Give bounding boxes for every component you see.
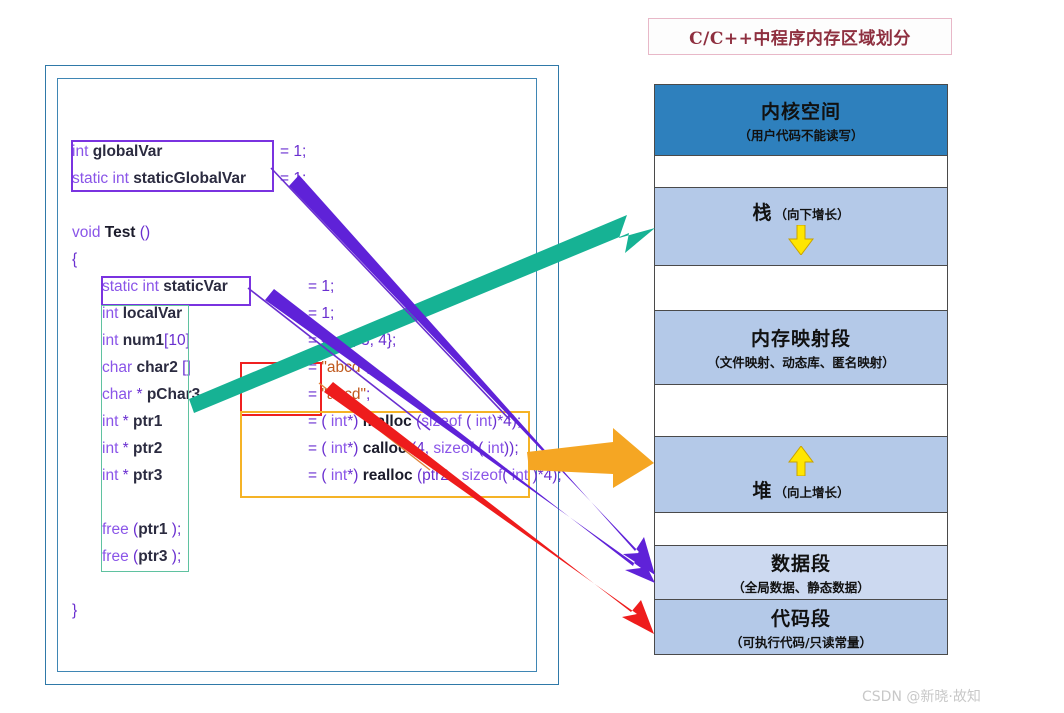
memory-segment-code-segment: 代码段（可执行代码/只读常量） (654, 600, 948, 655)
segment-sublabel: （全局数据、静态数据） (732, 577, 870, 596)
memory-segment-gap-1 (654, 156, 948, 188)
segment-sublabel: （用户代码不能读写） (738, 125, 863, 144)
code-line-right: = 1; (280, 138, 306, 165)
code-line-right: = 1; (308, 273, 334, 300)
segment-name: 数据段 (771, 549, 831, 576)
code-line-right: = 1; (308, 300, 334, 327)
memory-segment-kernel-space: 内核空间（用户代码不能读写） (654, 84, 948, 156)
memory-segment-memory-mapping: 内存映射段（文件映射、动态库、匿名映射） (654, 311, 948, 385)
memory-segment-gap-2 (654, 266, 948, 311)
code-line-func-decl: void Test () (72, 219, 542, 246)
segment-label-row: 栈（向下增长） (752, 198, 849, 225)
locals-box (101, 305, 189, 572)
stack-growth-down-arrow-icon (788, 225, 814, 255)
heap-growth-up-arrow-icon (788, 446, 814, 476)
code-line-left: { (72, 246, 77, 273)
memory-segment-heap: 堆（向上增长） (654, 437, 948, 513)
code-line-left: } (72, 597, 77, 624)
code-line-blank-1 (72, 192, 542, 219)
segment-sublabel: （文件映射、动态库、匿名映射） (707, 352, 895, 371)
memory-layout-column: 内核空间（用户代码不能读写）栈（向下增长）内存映射段（文件映射、动态库、匿名映射… (654, 84, 948, 655)
code-line-close-brace: } (72, 597, 542, 624)
segment-name: 代码段 (771, 604, 831, 631)
csdn-watermark: CSDN @新晓·故知 (862, 686, 981, 706)
diagram-title-box: C/C++中程序内存区域划分 (648, 18, 952, 55)
code-line-open-brace: { (72, 246, 542, 273)
segment-name: 内存映射段 (751, 324, 851, 351)
string-literal-box (240, 362, 322, 416)
heap-alloc-box (240, 411, 530, 498)
code-line-right: = {1, 2, 3, 4}; (308, 327, 396, 354)
memory-segment-stack: 栈（向下增长） (654, 188, 948, 266)
segment-sublabel: （向上增长） (775, 482, 850, 501)
segment-sublabel: （可执行代码/只读常量） (730, 632, 872, 651)
global-static-box (71, 140, 274, 192)
segment-name: 堆 (752, 476, 772, 503)
diagram-title: C/C++中程序内存区域划分 (689, 24, 911, 49)
code-line-right: = 1; (280, 165, 306, 192)
memory-segment-gap-4 (654, 513, 948, 546)
memory-segment-gap-3 (654, 385, 948, 437)
segment-label-row: 堆（向上增长） (752, 476, 849, 503)
code-line-left: void Test () (72, 219, 150, 246)
memory-segment-data-segment: 数据段（全局数据、静态数据） (654, 546, 948, 600)
segment-name: 内核空间 (761, 97, 841, 124)
static-var-box (101, 276, 251, 306)
segment-sublabel: （向下增长） (775, 204, 850, 223)
segment-name: 栈 (752, 198, 772, 225)
code-line-blank-3 (72, 570, 542, 597)
